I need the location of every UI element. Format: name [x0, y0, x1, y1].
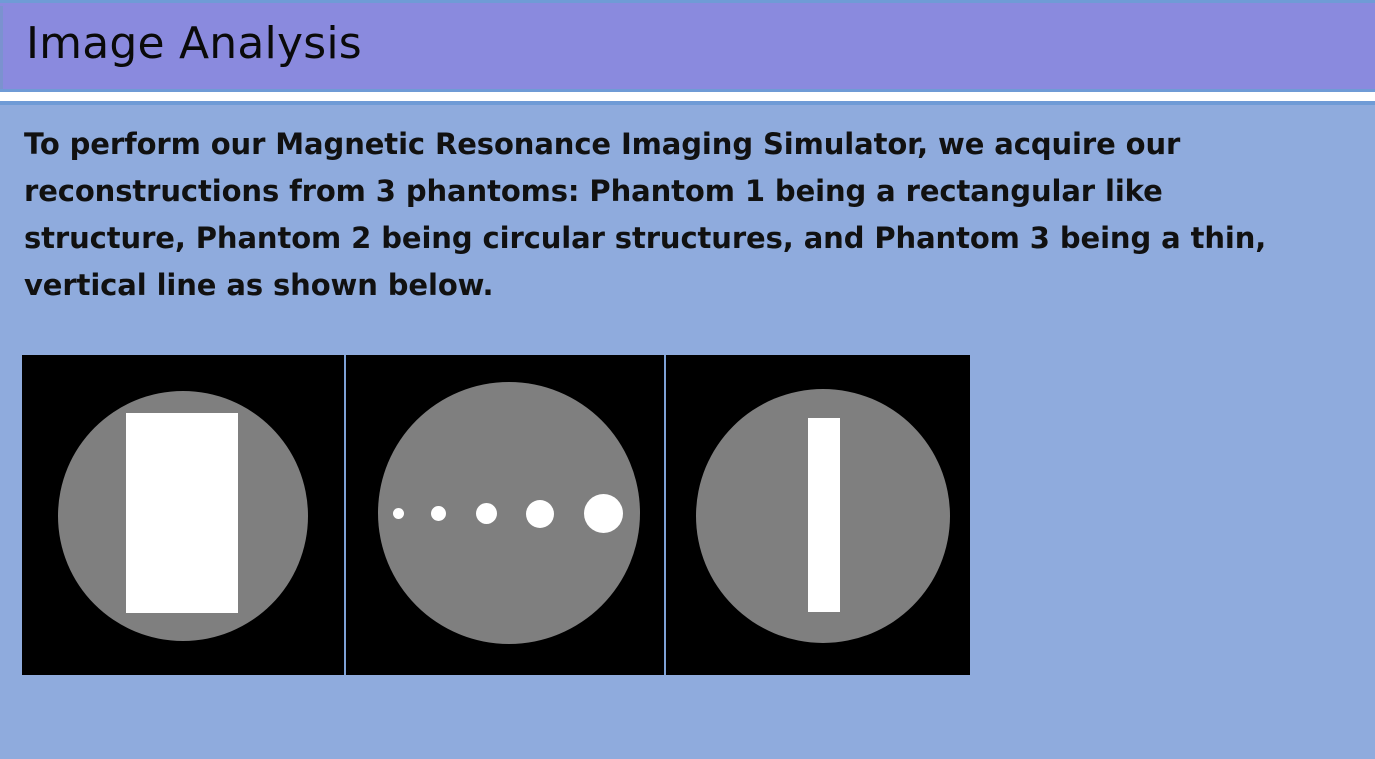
phantom-panel-separator-1	[344, 355, 346, 675]
phantom-3-vertical-line-feature	[808, 418, 840, 612]
phantom-2-circle-5	[584, 494, 623, 533]
phantom-figure-strip	[22, 355, 970, 675]
phantom-2-circle-3	[476, 503, 497, 524]
phantom-1-rectangle-feature	[126, 413, 238, 613]
phantom-1-panel	[22, 355, 344, 675]
phantom-2-panel	[346, 355, 664, 675]
phantom-3-panel	[666, 355, 970, 675]
title-divider-gap	[0, 92, 1375, 101]
phantom-panel-separator-2	[664, 355, 666, 675]
phantom-2-circle-4	[526, 500, 554, 528]
body-paragraph: To perform our Magnetic Resonance Imagin…	[24, 121, 1314, 309]
slide: Image Analysis To perform our Magnetic R…	[0, 0, 1375, 759]
phantom-2-circle-2	[431, 506, 446, 521]
phantom-2-circle-1	[393, 508, 404, 519]
page-title: Image Analysis	[26, 14, 362, 74]
slide-body: To perform our Magnetic Resonance Imagin…	[0, 105, 1375, 759]
title-band-left-edge	[0, 6, 3, 92]
